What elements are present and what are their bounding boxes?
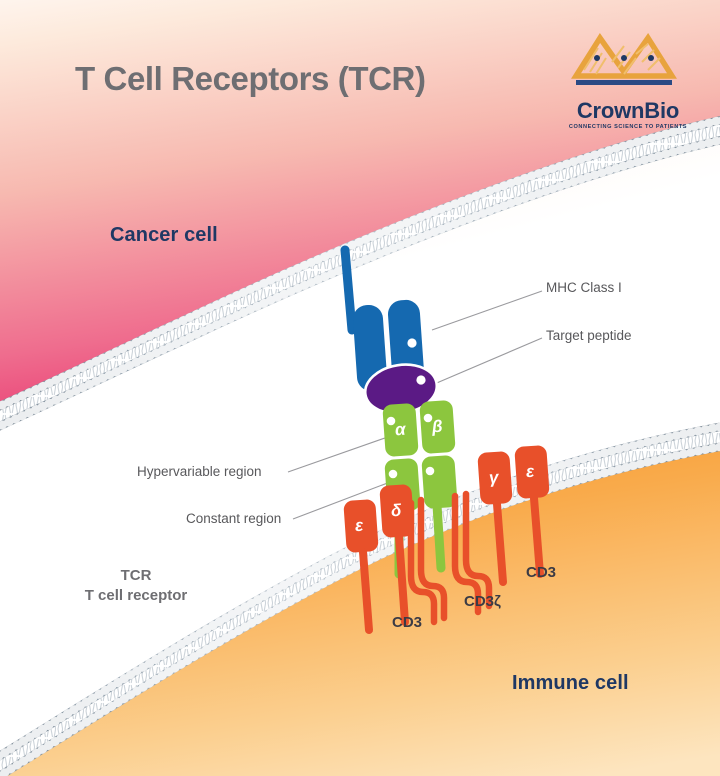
callout-target-peptide: Target peptide bbox=[546, 328, 632, 343]
callout-hypervariable-region: Hypervariable region bbox=[137, 464, 262, 479]
brand-tagline: CONNECTING SCIENCE TO PATIENTS bbox=[552, 124, 704, 130]
brand-logo[interactable]: CrownBio CONNECTING SCIENCE TO PATIENTS bbox=[552, 28, 704, 136]
cd3-label-right: CD3 bbox=[526, 564, 556, 581]
callout-mhc-class-i: MHC Class I bbox=[546, 280, 622, 295]
cd3-gamma-symbol: γ bbox=[488, 468, 499, 489]
peptide-dot bbox=[416, 375, 425, 384]
mhc-dot bbox=[407, 338, 416, 347]
cd3-epsilon-right-symbol: ε bbox=[525, 462, 535, 483]
diagram-canvas: T Cell Receptors (TCR) CrownBio CONNECTI… bbox=[0, 0, 720, 776]
callout-constant-region: Constant region bbox=[186, 511, 281, 526]
cd3-label-left: CD3 bbox=[392, 614, 422, 631]
beta-chain-symbol: β bbox=[431, 417, 443, 438]
tcr-legend: TCR T cell receptor bbox=[66, 566, 206, 606]
brand-name: CrownBio bbox=[552, 98, 704, 124]
cancer-cell-label: Cancer cell bbox=[110, 224, 218, 247]
cd3-zeta-label: CD3ζ bbox=[464, 593, 501, 610]
immune-cell-label: Immune cell bbox=[512, 672, 629, 695]
beta-tail bbox=[437, 505, 441, 568]
tcr-full-name: T cell receptor bbox=[66, 586, 206, 606]
tcr-abbrev: TCR bbox=[66, 566, 206, 586]
page-title: T Cell Receptors (TCR) bbox=[75, 60, 426, 98]
cd3-epsilon-left-symbol: ε bbox=[354, 516, 364, 537]
cd3-delta-symbol: δ bbox=[390, 501, 402, 522]
alpha-chain-symbol: α bbox=[394, 420, 406, 441]
